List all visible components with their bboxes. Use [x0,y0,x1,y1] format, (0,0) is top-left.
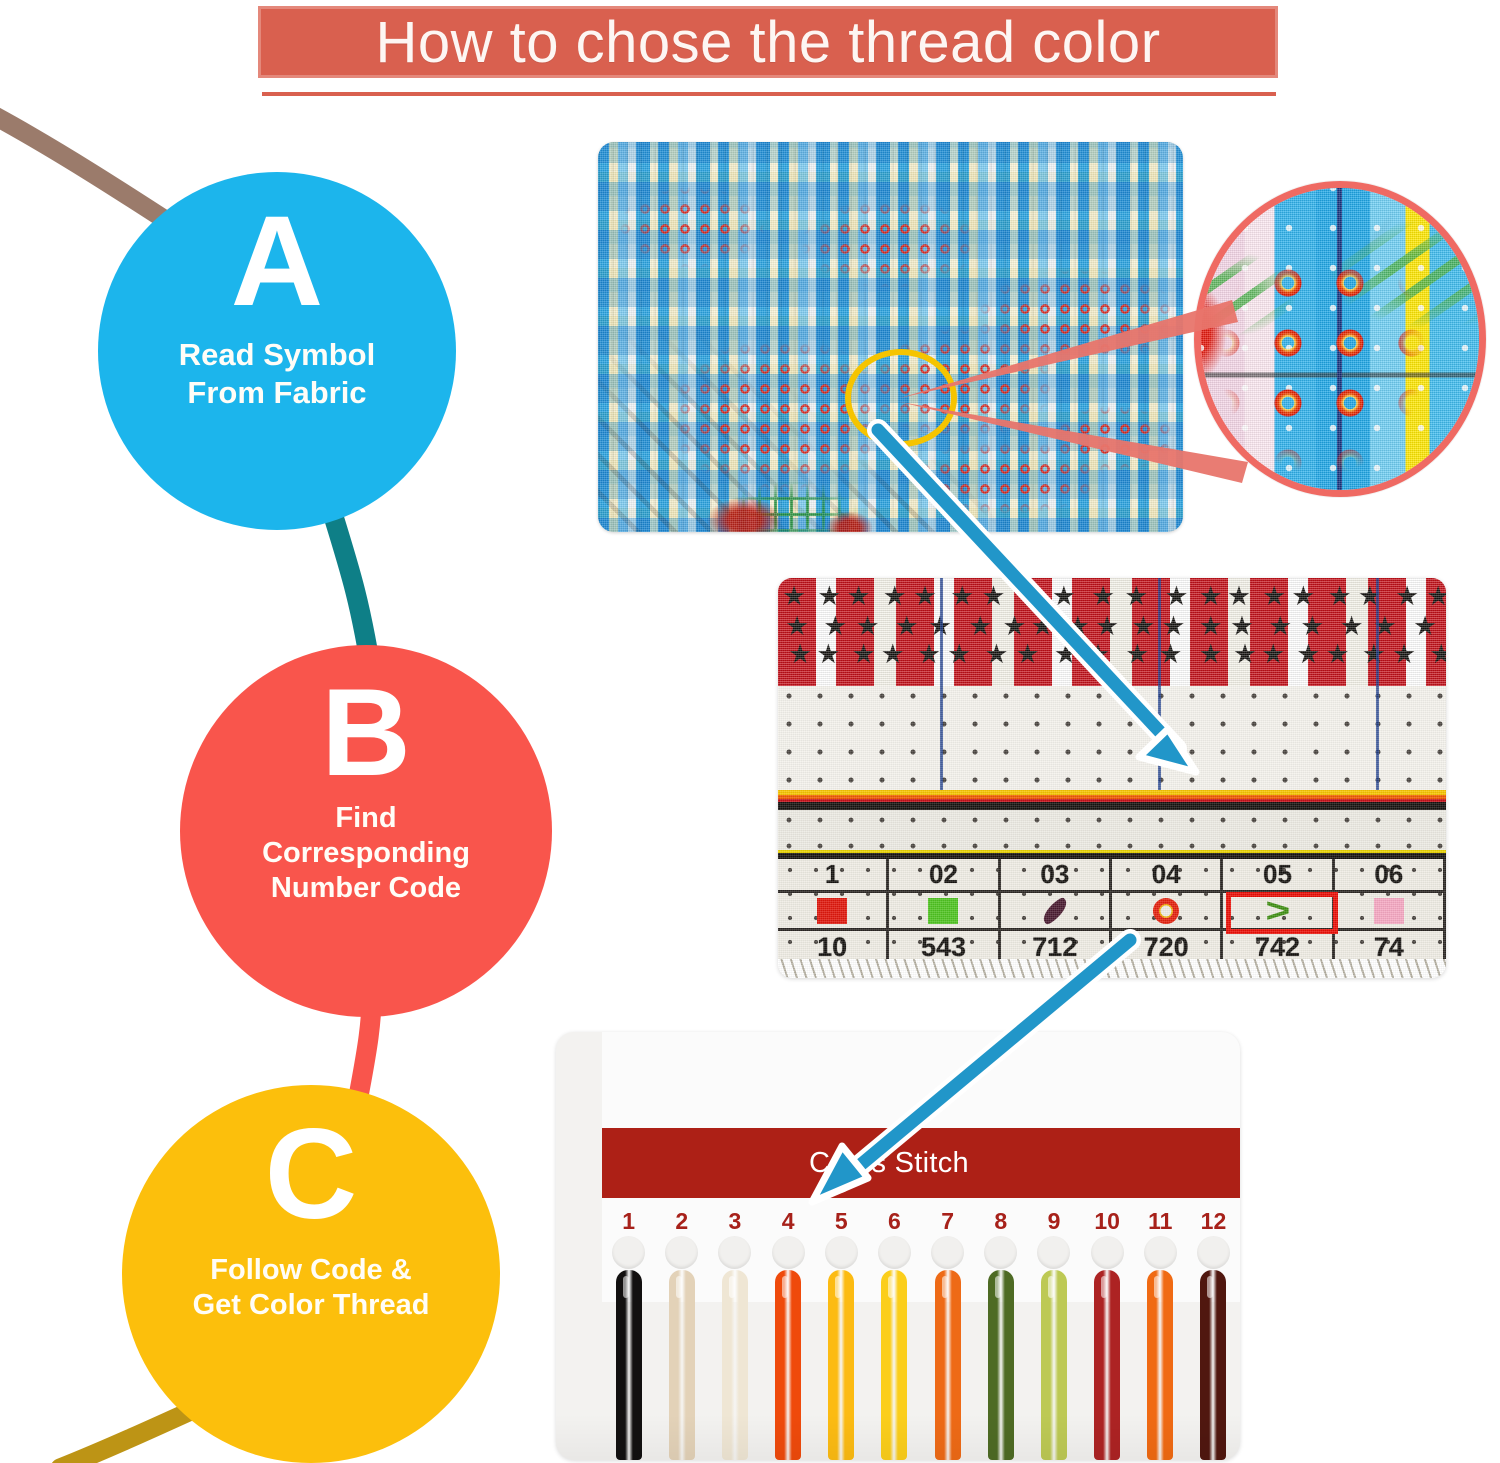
chart-vertical-line [940,578,943,802]
chart-column-symbol [1335,893,1443,931]
thread-card-band: Cross Stitch [602,1128,1240,1198]
thread-position-number: 9 [1027,1202,1080,1240]
chart-column-number: 06 [1335,859,1443,893]
thread-card-photo: Cross Stitch 1 2 3 4 5 6 7 8 9 10 11 12 [556,1032,1240,1460]
chart-column-symbol [1112,893,1220,931]
thread-position-number: 2 [655,1202,708,1240]
thread-position-number: 6 [868,1202,921,1240]
chart-column-number: 03 [1001,859,1109,893]
chart-column-symbol [1001,893,1109,931]
red-ring-icon [1153,898,1179,924]
chart-column-selected: 04 720 [1112,859,1223,963]
printed-fabric-photo [598,142,1183,532]
chart-star-texture [778,578,1446,690]
chart-color-band-2 [778,850,1446,859]
chart-column: 03 712 [1001,859,1112,963]
step-c-label: Follow Code & Get Color Thread [175,1253,448,1324]
step-circle-b[interactable]: B Find Corresponding Number Code [180,645,552,1017]
chart-vertical-line [1376,578,1379,802]
thread-position-number: 1 [602,1202,655,1240]
green-square-icon [928,898,958,924]
thread-position-numbers: 1 2 3 4 5 6 7 8 9 10 11 12 [602,1202,1240,1240]
thread-position-number: 7 [921,1202,974,1240]
chart-column-number: 02 [889,859,997,893]
chart-column-number: 05 [1223,859,1331,893]
chart-column-symbol [778,893,886,931]
dark-leaf-icon [1039,896,1071,926]
chart-column: 1 10 [778,859,889,963]
chart-blank-canvas [778,686,1446,794]
thread-card-shadow [556,1414,1240,1460]
step-circle-c[interactable]: C Follow Code & Get Color Thread [122,1085,500,1463]
fabric-thread-texture [598,142,1183,532]
chart-spiral-binding [778,959,1446,978]
fabric-magnifier-circle [1194,181,1486,497]
magnifier-thread-texture [1194,181,1486,497]
chart-column: 06 74 [1335,859,1446,963]
pink-square-icon [1374,898,1404,924]
chart-legend-table: 1 10 02 543 03 712 04 720 05 > 742 06 74 [778,859,1446,963]
thread-position-number: 10 [1081,1202,1134,1240]
thread-position-number: 11 [1134,1202,1187,1240]
thread-card-body: Cross Stitch 1 2 3 4 5 6 7 8 9 10 11 12 [602,1032,1240,1302]
fabric-highlight-circle [845,349,957,447]
chart-color-band [778,790,1446,812]
chart-selected-symbol-box [1226,892,1338,934]
chart-vertical-line [1158,578,1161,802]
chart-column-number: 04 [1112,859,1220,893]
red-square-icon [817,898,847,924]
step-c-letter: C [265,1111,357,1239]
thread-position-number: 5 [815,1202,868,1240]
chart-blank-canvas-2 [778,810,1446,854]
step-a-label: Read Symbol From Fabric [161,336,393,412]
thread-position-number: 3 [708,1202,761,1240]
chart-column-symbol [889,893,997,931]
color-code-chart-photo: ★★★★★★★★★★★★★★★★★★★★★★★★ ★★★★★★★★★★★★★★★… [778,578,1446,978]
step-a-letter: A [231,198,323,326]
thread-position-number: 12 [1187,1202,1240,1240]
step-circle-a[interactable]: A Read Symbol From Fabric [98,172,456,530]
step-b-letter: B [321,671,411,795]
chart-column: 02 543 [889,859,1000,963]
thread-position-number: 8 [974,1202,1027,1240]
thread-card-band-label: Cross Stitch [809,1147,969,1180]
thread-position-number: 4 [762,1202,815,1240]
step-b-label: Find Corresponding Number Code [244,801,488,905]
chart-column-number: 1 [778,859,886,893]
